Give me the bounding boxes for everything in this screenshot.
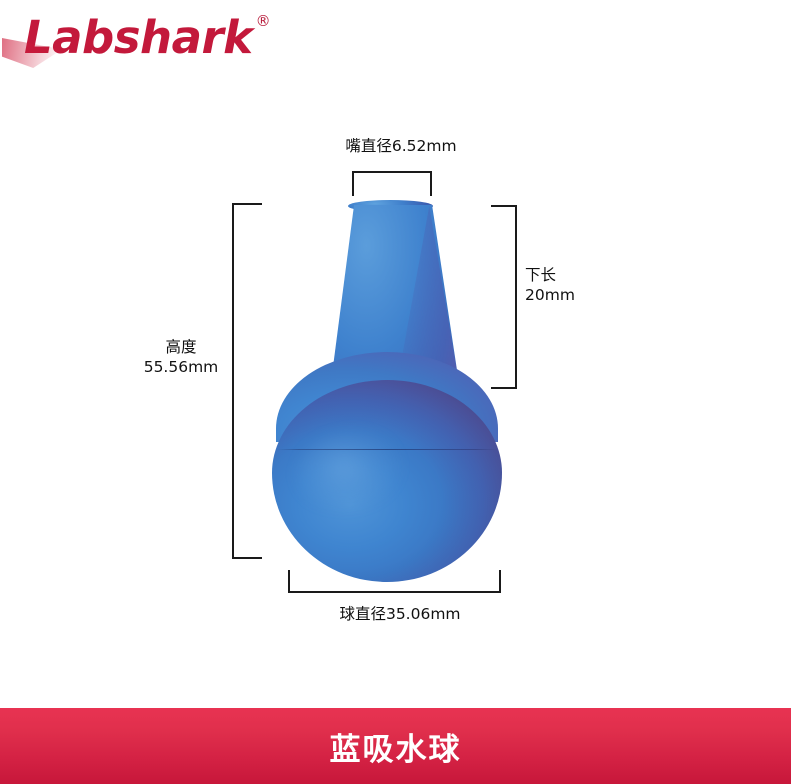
lower-length-label: 下长 20mm [525,265,611,305]
ball-diameter-label: 球直径35.06mm [300,604,500,624]
ball-diameter-bracket [289,570,500,592]
lower-length-bracket [491,206,516,388]
total-height-bracket [233,204,262,558]
product-title-banner: 蓝吸水球 [0,708,791,784]
product-title: 蓝吸水球 [330,724,462,769]
product-spec-image: Labshark ® 嘴直径6.52mm 下长 20mm 高度 55.56mm … [0,0,791,784]
mouth-diameter-bracket [353,172,431,196]
total-height-label: 高度 55.56mm [118,337,244,377]
mouth-diameter-label: 嘴直径6.52mm [331,136,471,156]
